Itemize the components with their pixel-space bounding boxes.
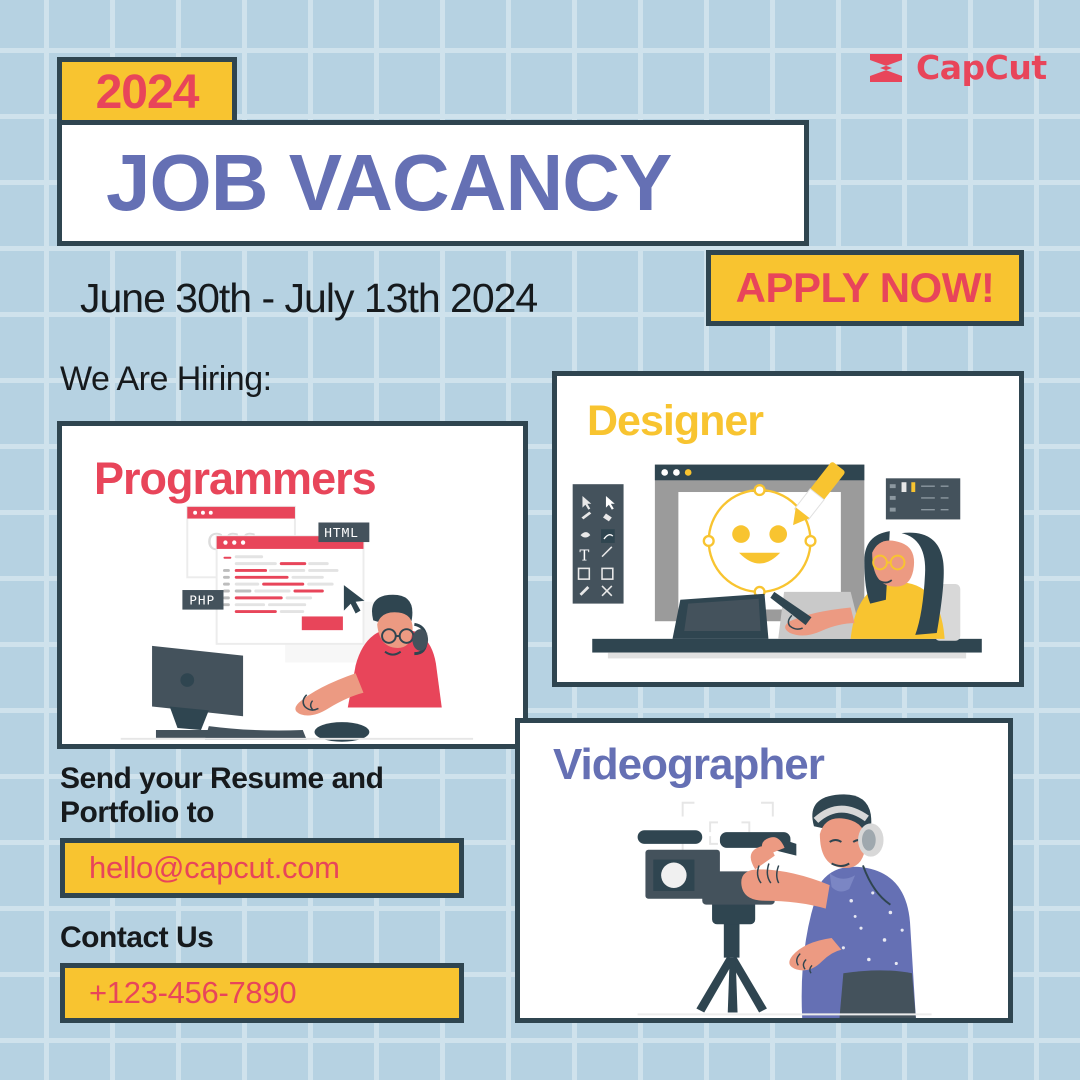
job-card-programmers[interactable]: Programmers CSS C++ xyxy=(57,421,528,749)
resume-heading: Send your Resume and Portfolio to xyxy=(60,762,480,829)
date-range: June 30th - July 13th 2024 xyxy=(80,275,537,322)
page-title: JOB VACANCY xyxy=(62,143,671,223)
videographer-with-camera-illustration xyxy=(520,791,1008,1018)
capcut-wordmark: CapCut xyxy=(916,48,1047,87)
programmer-at-desk-illustration: CSS C++ xyxy=(62,499,523,744)
designer-with-tablet-illustration: T xyxy=(557,447,1019,682)
page-title-card: JOB VACANCY xyxy=(57,120,809,246)
contact-heading: Contact Us xyxy=(60,921,213,955)
year-badge: 2024 xyxy=(57,57,237,127)
job-title-designer: Designer xyxy=(587,400,763,443)
svg-text:PHP: PHP xyxy=(189,593,215,608)
phone-value: +123-456-7890 xyxy=(65,975,296,1011)
phone-bar[interactable]: +123-456-7890 xyxy=(60,963,464,1023)
svg-text:HTML: HTML xyxy=(324,525,359,540)
job-card-designer[interactable]: Designer xyxy=(552,371,1024,687)
poster-canvas: CapCut 2024 JOB VACANCY June 30th - July… xyxy=(0,0,1080,1080)
year-badge-label: 2024 xyxy=(96,65,199,120)
job-title-videographer: Videographer xyxy=(553,743,824,787)
apply-now-button[interactable]: APPLY NOW! xyxy=(706,250,1024,326)
svg-text:T: T xyxy=(580,548,590,565)
email-bar[interactable]: hello@capcut.com xyxy=(60,838,464,898)
hiring-label: We Are Hiring: xyxy=(60,360,272,399)
capcut-bowtie-icon xyxy=(866,49,906,87)
apply-now-label: APPLY NOW! xyxy=(736,264,995,312)
capcut-logo: CapCut xyxy=(866,48,1047,87)
job-card-videographer[interactable]: Videographer xyxy=(515,718,1013,1023)
job-title-programmers: Programmers xyxy=(94,456,376,501)
email-value: hello@capcut.com xyxy=(65,850,340,886)
